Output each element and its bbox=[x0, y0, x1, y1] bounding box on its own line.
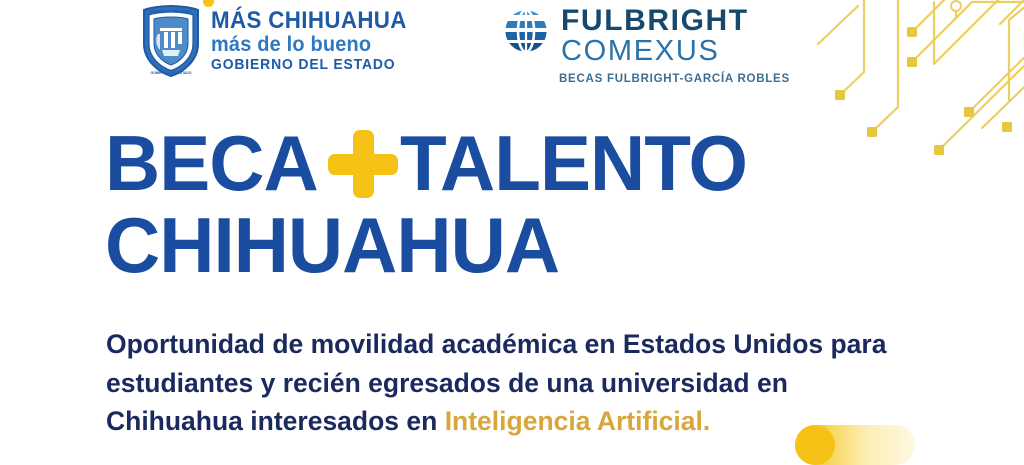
gobierno-logo-text: MÁS CHIHUAHUA más de lo bueno GOBIERNO D… bbox=[211, 7, 422, 74]
header-logos: ESTADO DE CHIHUAHUA GOBIERNO DEL ESTADO … bbox=[0, 0, 1024, 100]
body-line-3-prefix: Chihuahua interesados en bbox=[106, 406, 445, 436]
body-paragraph: Oportunidad de movilidad académica en Es… bbox=[106, 325, 924, 441]
gobierno-line-3: GOBIERNO DEL ESTADO bbox=[211, 56, 413, 75]
fulbright-line-1: FULBRIGHT bbox=[561, 6, 749, 36]
hero-word-chihuahua: CHIHUAHUA bbox=[105, 208, 559, 284]
fulbright-logo-wordmark: FULBRIGHT COMEXUS bbox=[561, 6, 749, 67]
hero-word-talento: TALENTO bbox=[400, 126, 747, 202]
body-highlight-ai: Inteligencia Artificial. bbox=[445, 406, 711, 436]
hero-word-beca: BECA bbox=[105, 126, 318, 202]
svg-text:ESTADO DE CHIHUAHUA: ESTADO DE CHIHUAHUA bbox=[150, 10, 192, 14]
svg-text:GOBIERNO DEL ESTADO: GOBIERNO DEL ESTADO bbox=[151, 71, 192, 75]
gobierno-line-1: MÁS CHIHUAHUA bbox=[211, 9, 407, 33]
fulbright-line-2: COMEXUS bbox=[561, 36, 749, 67]
gobierno-chihuahua-logo: ESTADO DE CHIHUAHUA GOBIERNO DEL ESTADO … bbox=[140, 4, 422, 78]
fulbright-comexus-logo: FULBRIGHT COMEXUS BECAS FULBRIGHT-GARCÍA… bbox=[503, 6, 790, 85]
body-line-3: Chihuahua interesados en Inteligencia Ar… bbox=[106, 402, 924, 441]
hero-line-1: BECA TALENTO bbox=[105, 126, 925, 202]
body-line-2: estudiantes y recién egresados de una un… bbox=[106, 364, 924, 403]
escudo-chihuahua-shield-icon: ESTADO DE CHIHUAHUA GOBIERNO DEL ESTADO bbox=[140, 4, 202, 78]
gobierno-line-2: más de lo bueno bbox=[211, 34, 411, 56]
body-line-1: Oportunidad de movilidad académica en Es… bbox=[106, 325, 924, 364]
fulbright-caption: BECAS FULBRIGHT-GARCÍA ROBLES bbox=[559, 73, 790, 85]
hero-headline: BECA TALENTO CHIHUAHUA bbox=[105, 126, 925, 283]
hero-line-2: CHIHUAHUA bbox=[105, 208, 925, 284]
plus-icon bbox=[328, 130, 398, 198]
fulbright-globe-icon bbox=[503, 8, 549, 54]
